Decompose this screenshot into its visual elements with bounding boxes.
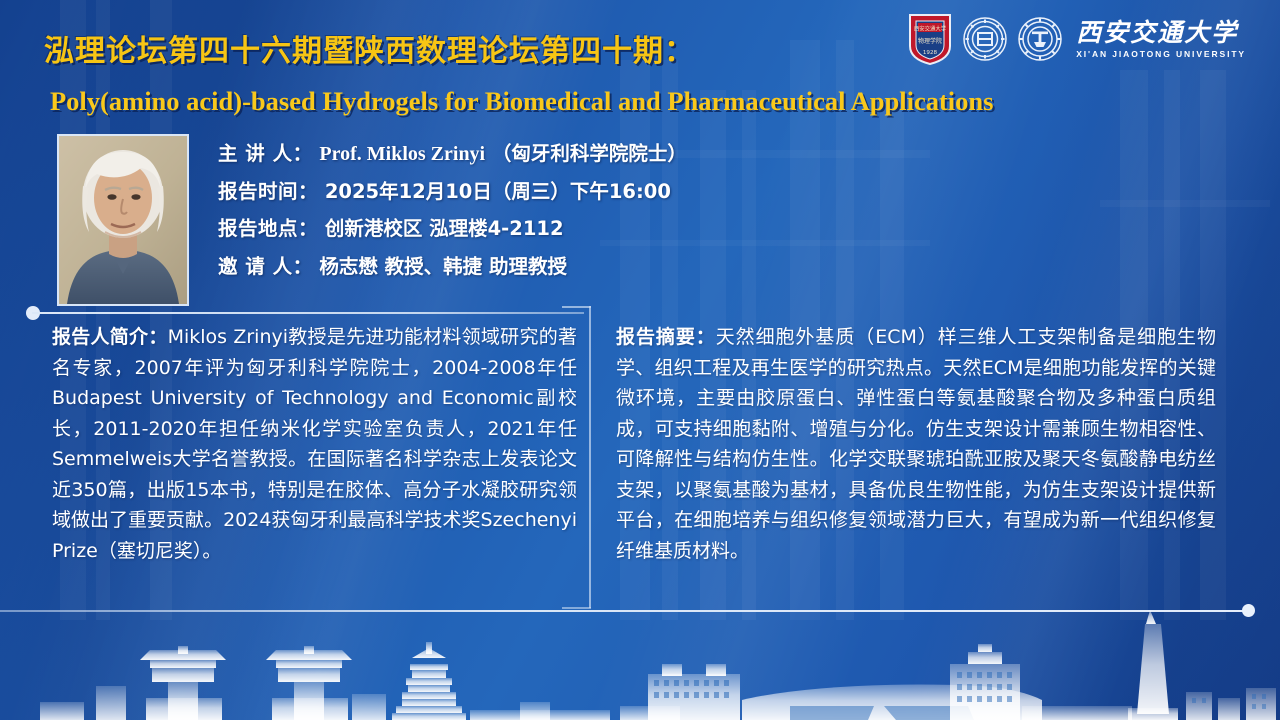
logo-group: 西安交通大学 物理学院 1928	[907, 12, 1246, 66]
divider-top	[32, 312, 584, 314]
info-label-speaker: 主 讲 人：	[218, 142, 313, 165]
xjtu-wordmark: 西安交通大学 XI'AN JIAOTONG UNIVERSITY	[1076, 20, 1246, 59]
column-divider-vertical	[589, 306, 591, 608]
info-row-time: 报告时间： 2025年12月10日（周三）下午16:00	[218, 181, 687, 203]
info-row-speaker: 主 讲 人： Prof. Miklos Zrinyi （匈牙利科学院院士）	[218, 143, 687, 166]
info-value-host: 杨志懋 教授、韩捷 助理教授	[319, 255, 567, 278]
info-row-location: 报告地点： 创新港校区 泓理楼4-2112	[218, 218, 687, 240]
speaker-info-block: 主 讲 人： Prof. Miklos Zrinyi （匈牙利科学院院士） 报告…	[218, 143, 687, 293]
column-bracket-top	[562, 306, 591, 308]
xjtu-department-emblem-icon	[962, 16, 1008, 62]
svg-text:西安交通大学: 西安交通大学	[914, 24, 947, 32]
speaker-biography: 报告人简介：Miklos Zrinyi教授是先进功能材料领域研究的著名专家，20…	[52, 322, 577, 566]
xjtu-university-emblem-icon	[1017, 16, 1063, 62]
abstract-body: 天然细胞外基质（ECM）样三维人工支架制备是细胞生物学、组织工程及再生医学的研究…	[616, 326, 1216, 562]
page-title-chinese: 泓理论坛第四十六期暨陕西数理论坛第四十期：	[44, 26, 695, 70]
svg-text:物理学院: 物理学院	[918, 37, 942, 45]
info-label-location: 报告地点：	[218, 217, 318, 240]
info-suffix-speaker: （匈牙利科学院院士）	[492, 142, 687, 165]
abstract-heading: 报告摘要：	[616, 326, 716, 348]
xjtu-shield-badge-icon: 西安交通大学 物理学院 1928	[907, 12, 953, 66]
shield-year-label: 1928	[923, 50, 938, 56]
info-value-location: 创新港校区 泓理楼4-2112	[325, 217, 564, 240]
info-row-host: 邀 请 人： 杨志懋 教授、韩捷 助理教授	[218, 256, 687, 278]
biography-heading: 报告人简介：	[52, 326, 168, 348]
speaker-photo	[57, 134, 189, 306]
info-label-time: 报告时间：	[218, 180, 318, 203]
talk-abstract: 报告摘要：天然细胞外基质（ECM）样三维人工支架制备是细胞生物学、组织工程及再生…	[616, 322, 1216, 566]
info-value-speaker: Prof. Miklos Zrinyi	[319, 143, 485, 165]
xian-city-skyline-silhouette	[0, 602, 1280, 720]
page-title-english: Poly(amino acid)-based Hydrogels for Bio…	[50, 86, 1230, 117]
wordmark-english: XI'AN JIAOTONG UNIVERSITY	[1076, 49, 1246, 59]
seminar-poster: 泓理论坛第四十六期暨陕西数理论坛第四十期： Poly(amino acid)-b…	[0, 0, 1280, 720]
info-label-host: 邀 请 人：	[218, 255, 313, 278]
wordmark-chinese: 西安交通大学	[1076, 20, 1238, 45]
info-value-time: 2025年12月10日（周三）下午16:00	[325, 180, 671, 203]
biography-body: Miklos Zrinyi教授是先进功能材料领域研究的著名专家，2007年评为匈…	[52, 326, 577, 562]
